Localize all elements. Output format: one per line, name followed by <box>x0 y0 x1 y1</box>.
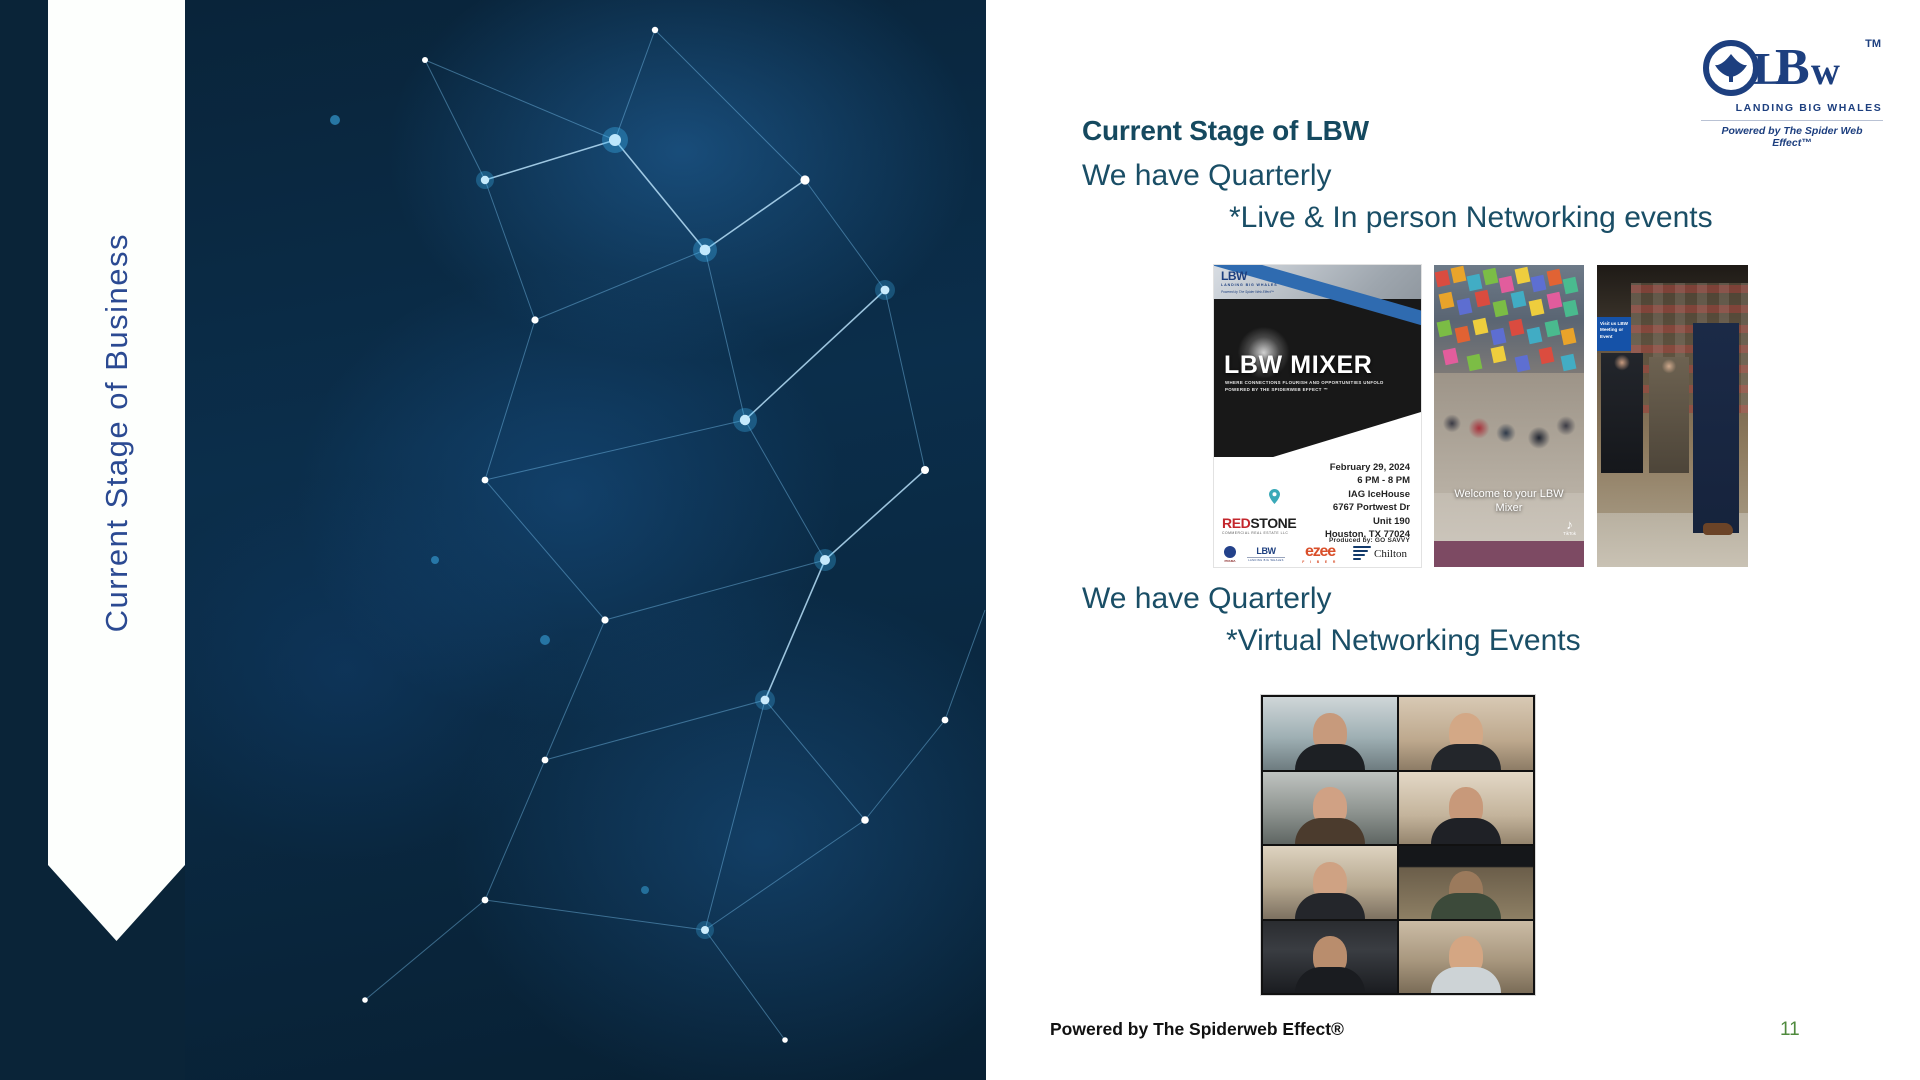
mixer-crowd-figures <box>1434 373 1584 493</box>
location-pin-icon <box>1269 489 1280 509</box>
side-banner-arrow: Current Stage of Business <box>48 0 185 1080</box>
venue-display-screen: Visit us LBW Meeting or Event <box>1597 317 1631 351</box>
logo-tagline: Powered by The Spider Web Effect™ <box>1701 125 1883 149</box>
tiktok-icon: ♪ TikTok <box>1563 518 1576 536</box>
logo-subtitle: LANDING BIG WHALES <box>1735 102 1883 114</box>
flyer-venue: IAG IceHouse <box>1290 488 1410 501</box>
sponsor-ezee-name: ezee <box>1293 544 1347 560</box>
video-tile-participant <box>1263 846 1397 919</box>
whale-tail-circle-icon: L B w <box>1701 32 1883 106</box>
flyer-address-1: 6767 Portwest Dr <box>1290 501 1410 514</box>
network-constellation-graphic <box>185 0 986 1080</box>
video-tile-participant <box>1263 697 1397 770</box>
video-tile-participant <box>1263 772 1397 845</box>
flyer-logo-wordmark: LBW <box>1221 269 1295 283</box>
flyer-event-details: February 29, 2024 6 PM - 8 PM IAG IceHou… <box>1290 461 1410 542</box>
video-tile-participant <box>1399 772 1533 845</box>
flyer-logo-subtitle: LANDING BIG WHALES <box>1221 283 1295 287</box>
mixer-photo-crowd: Welcome to your LBW Mixer ♪ TikTok <box>1434 265 1584 567</box>
flyer-sponsor-row: PRAMA LBW LANDING BIG WHALES ezee F I B … <box>1221 544 1407 564</box>
text-live-events: *Live & In person Networking events <box>1229 201 1713 235</box>
slide-page-number: 11 <box>1780 1019 1800 1041</box>
tiktok-watermark-label: TikTok <box>1563 531 1576 536</box>
footer-powered-by: Powered by The Spiderweb Effect® <box>1050 1019 1344 1040</box>
video-tile-participant <box>1399 846 1533 919</box>
side-banner-label-wrap: Current Stage of Business <box>48 0 185 865</box>
sponsor-redstone: REDSTONE COMMERCIAL REAL ESTATE LLC <box>1222 515 1296 535</box>
right-content-panel: L B w TM LANDING BIG WHALES Powered by T… <box>986 0 1920 1080</box>
text-have-quarterly-live: We have Quarterly <box>1082 159 1332 193</box>
chilton-bars-icon <box>1353 546 1371 562</box>
presentation-slide: Current Stage of Business L B w TM LANDI… <box>0 0 1920 1080</box>
svg-text:w: w <box>1811 48 1840 93</box>
flyer-logo-tagline: Powered by The Spider Web Effect™ <box>1221 290 1295 294</box>
flyer-address-2: Unit 190 <box>1290 515 1410 528</box>
flyer-title: LBW MIXER <box>1224 351 1372 380</box>
mixer-photo-networking: Visit us LBW Meeting or Event <box>1597 265 1748 567</box>
mixer-rug <box>1434 541 1584 567</box>
sponsor-chilton: Chilton <box>1353 546 1407 562</box>
video-call-participant-grid <box>1261 695 1535 995</box>
mixer-caption-line1: Welcome to your LBW <box>1434 488 1584 502</box>
video-tile-participant <box>1263 921 1397 994</box>
text-virtual-events: *Virtual Networking Events <box>1226 624 1581 658</box>
sponsor-ezee-sub: F I B E R <box>1293 560 1347 564</box>
mixer-caption-line2: Mixer <box>1434 502 1584 516</box>
page-title: Current Stage of LBW <box>1082 115 1369 147</box>
sponsor-ezee: ezee F I B E R <box>1293 544 1347 564</box>
video-tile-participant <box>1399 697 1533 770</box>
flyer-photo-header: LBW LANDING BIG WHALES Powered by The Sp… <box>1214 265 1421 457</box>
attendee-shoe <box>1703 523 1733 535</box>
sponsor-prama-name: PRAMA <box>1221 559 1239 563</box>
sponsor-lbw-sub: LANDING BIG WHALES <box>1245 559 1287 562</box>
flyer-date: February 29, 2024 <box>1290 461 1410 474</box>
left-navy-panel: Current Stage of Business <box>0 0 986 1080</box>
sponsor-prama: PRAMA <box>1221 546 1239 563</box>
attendee-seated-left <box>1601 353 1643 473</box>
flyer-time: 6 PM - 8 PM <box>1290 474 1410 487</box>
attendee-seated-middle <box>1649 357 1689 473</box>
venue-screen-text: Visit us LBW Meeting or Event <box>1597 317 1631 340</box>
sponsor-lbw: LBW LANDING BIG WHALES <box>1245 546 1287 562</box>
sidebar-label: Current Stage of Business <box>99 233 135 632</box>
logo-trademark: TM <box>1865 38 1881 50</box>
text-have-quarterly-virtual: We have Quarterly <box>1082 582 1332 616</box>
papel-picado-decor <box>1434 265 1584 385</box>
flyer-lbw-logo: LBW LANDING BIG WHALES Powered by The Sp… <box>1221 269 1295 294</box>
logo-mark: L B w TM <box>1701 32 1883 106</box>
sponsor-chilton-name: Chilton <box>1374 548 1407 560</box>
flyer-subtitle-line1: WHERE CONNECTIONS FLOURISH AND OPPORTUNI… <box>1225 380 1384 385</box>
sponsor-lbw-name: LBW <box>1245 546 1287 556</box>
sponsor-redstone-sub: COMMERCIAL REAL ESTATE LLC <box>1222 531 1296 535</box>
svg-text:B: B <box>1775 39 1810 96</box>
flyer-subtitle-line2: POWERED BY THE SPIDERWEB EFFECT ™ <box>1225 387 1328 392</box>
side-banner-arrow-tip <box>48 865 185 941</box>
video-tile-participant-active-speaker <box>1399 921 1533 994</box>
attendee-standing-suit <box>1693 323 1739 533</box>
lbw-logo: L B w TM LANDING BIG WHALES Powered by T… <box>1701 32 1883 150</box>
logo-divider <box>1701 120 1883 121</box>
lbw-mixer-flyer: LBW LANDING BIG WHALES Powered by The Sp… <box>1214 265 1421 567</box>
mixer-photo-caption: Welcome to your LBW Mixer <box>1434 488 1584 516</box>
flyer-produced-by: Produced by: GO SAVVY <box>1280 537 1410 544</box>
